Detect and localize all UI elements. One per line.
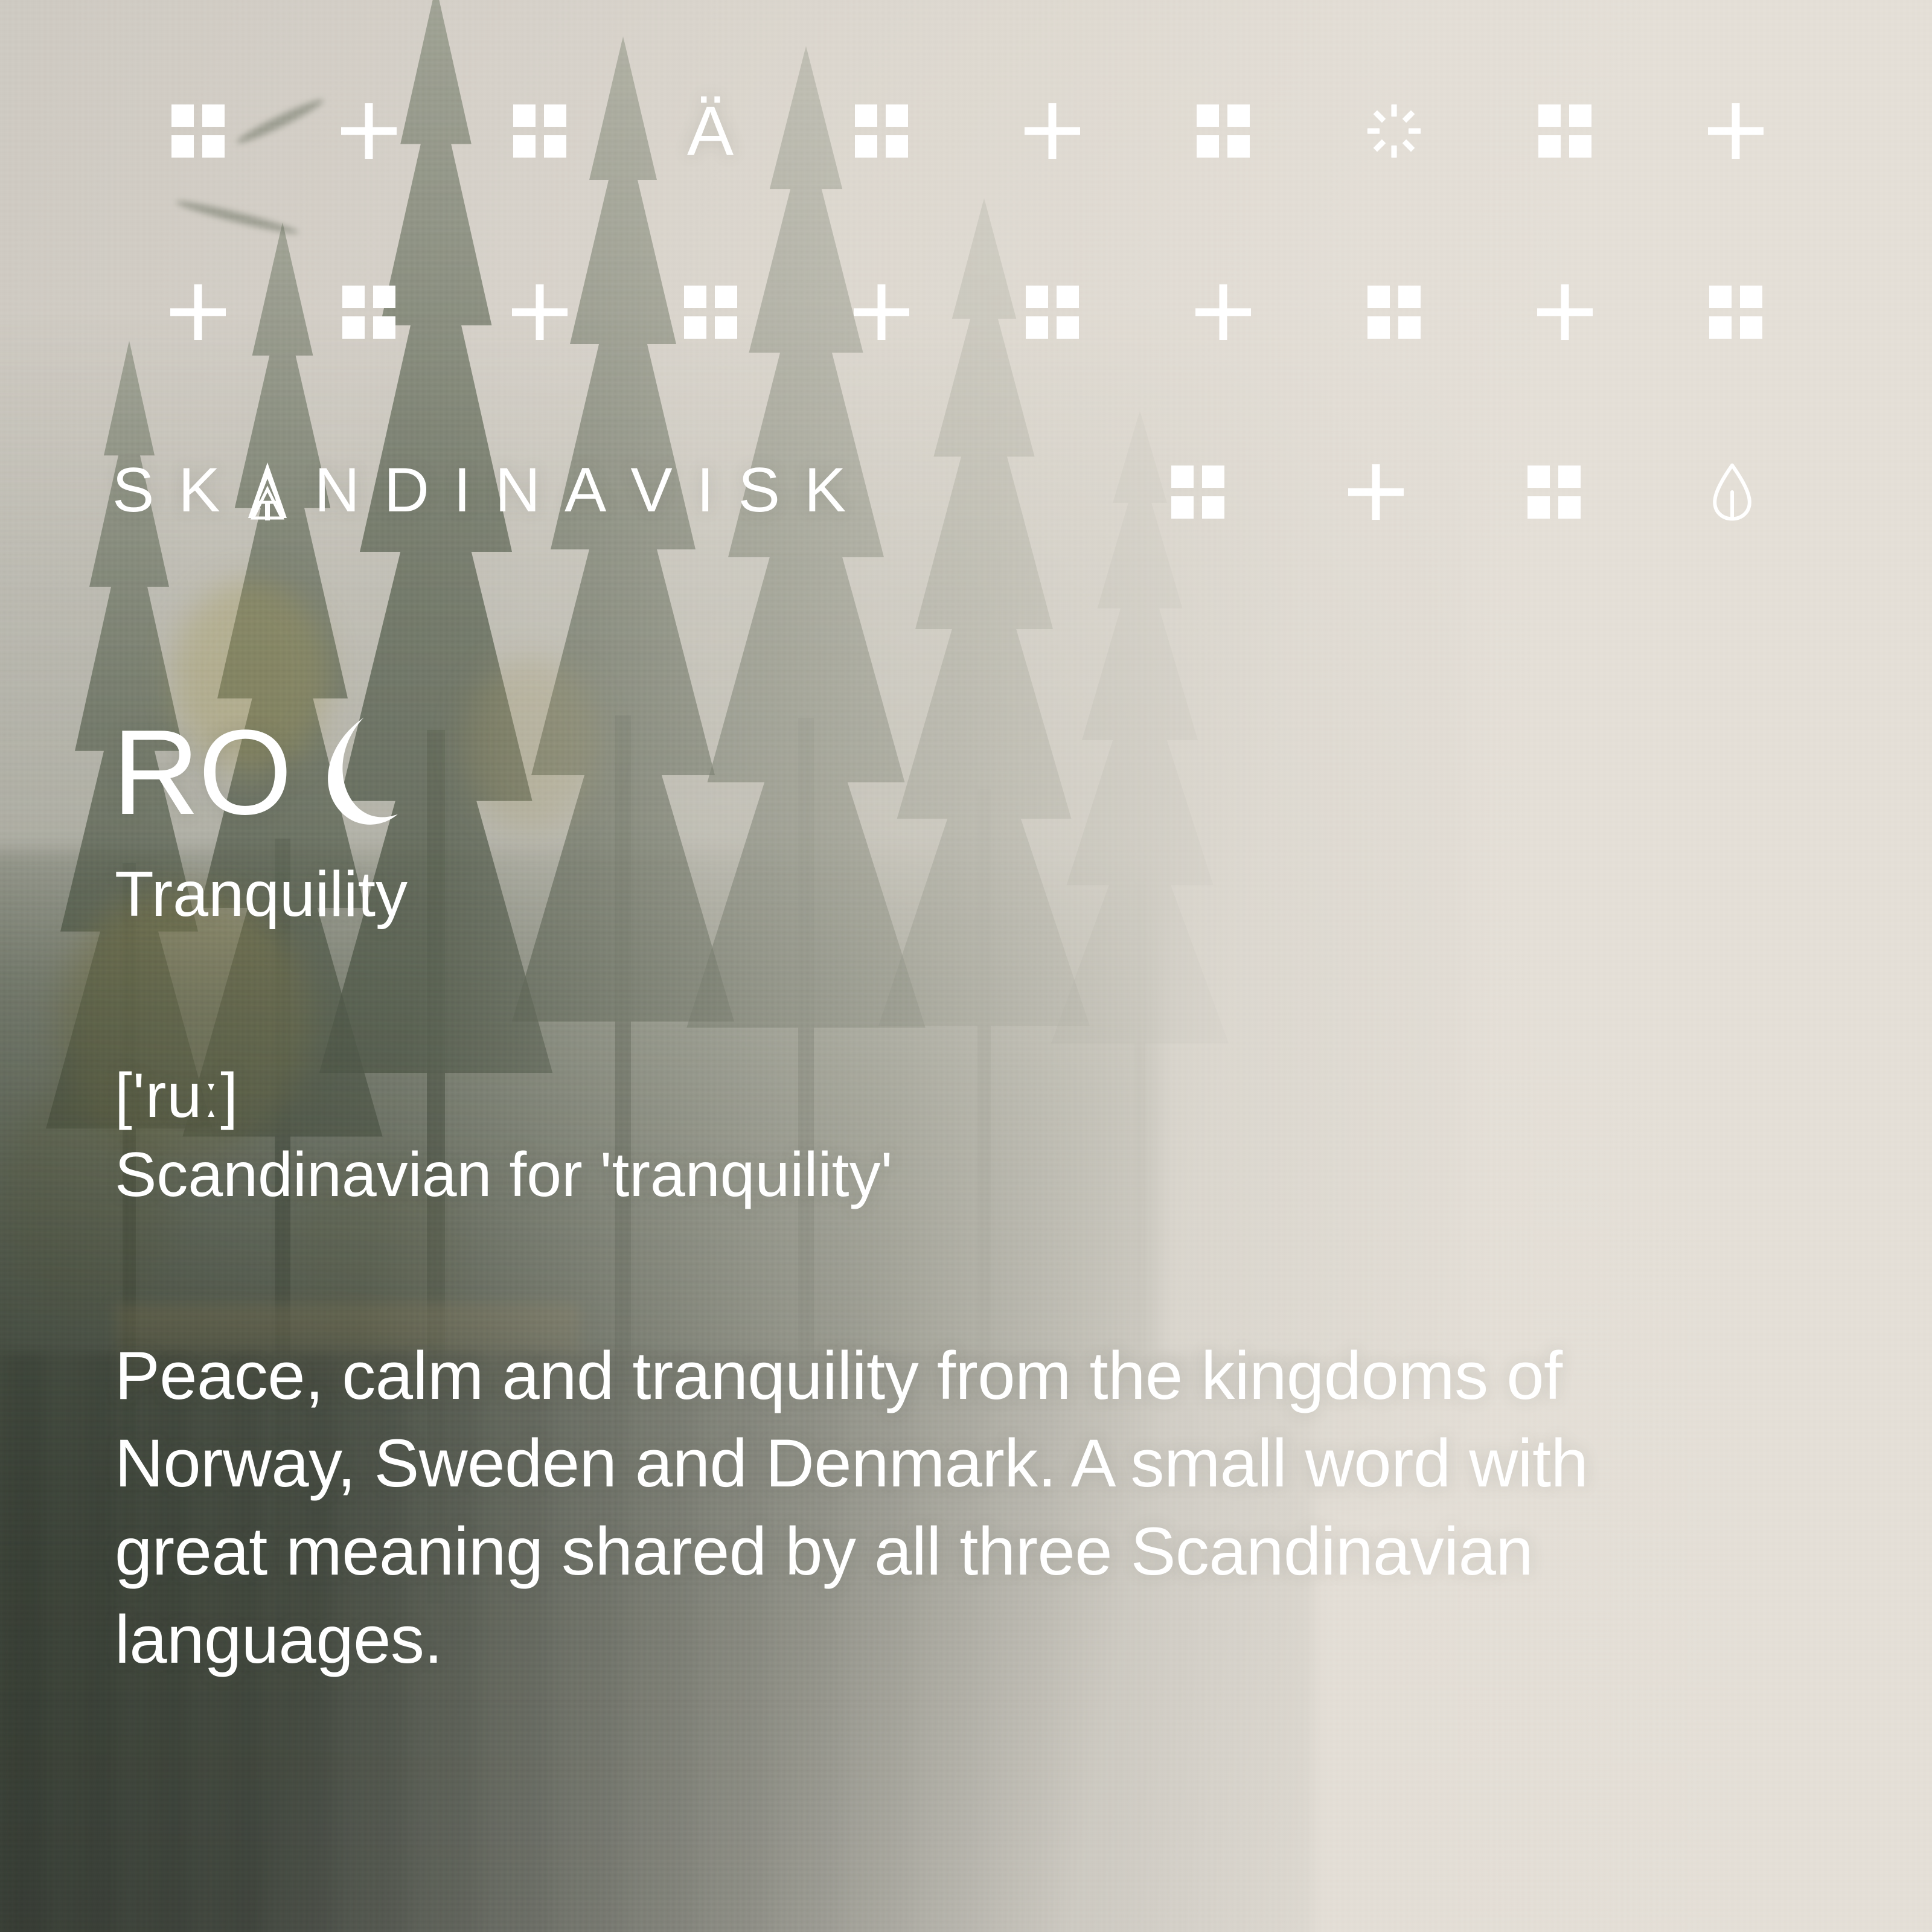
plus-icon bbox=[512, 284, 568, 340]
plus-icon-cell bbox=[454, 279, 625, 345]
grid-icon-cell bbox=[1479, 98, 1650, 164]
grid-icon bbox=[342, 286, 395, 339]
grid-icon-cell bbox=[1108, 459, 1287, 525]
grid-icon bbox=[1709, 286, 1762, 339]
plus-icon bbox=[1195, 284, 1251, 340]
grid-icon-cell bbox=[1465, 459, 1643, 525]
grid-icon-cell bbox=[625, 279, 796, 345]
plus-icon-cell bbox=[1650, 98, 1821, 164]
wordmark-letter: V bbox=[630, 459, 672, 522]
plus-icon bbox=[341, 103, 397, 159]
wordmark-letter: I bbox=[697, 459, 714, 522]
grid-icon-cell bbox=[1650, 279, 1821, 345]
wordmark-letter: N bbox=[495, 459, 540, 522]
brand-wordmark[interactable]: S K N D I N A V I S K bbox=[112, 454, 846, 526]
wordmark-letter: D bbox=[384, 459, 429, 522]
wordmark-letter: K bbox=[804, 459, 846, 522]
description-text: Peace, calm and tranquility from the kin… bbox=[115, 1332, 1682, 1683]
page-title-row: RO bbox=[112, 712, 1682, 833]
pine-tree-icon bbox=[245, 459, 290, 522]
description-block: Peace, calm and tranquility from the kin… bbox=[115, 1332, 1682, 1683]
plus-icon bbox=[170, 284, 226, 340]
plus-icon bbox=[1537, 284, 1593, 340]
grid-icon bbox=[855, 104, 908, 158]
wordmark-letter: N bbox=[315, 459, 360, 522]
wordmark-letter: A bbox=[565, 459, 606, 522]
grid-icon-cell bbox=[967, 279, 1137, 345]
grid-icon bbox=[513, 104, 566, 158]
grid-icon-cell bbox=[796, 98, 967, 164]
plus-icon-cell bbox=[967, 98, 1137, 164]
grid-icon bbox=[684, 286, 737, 339]
plus-icon bbox=[1708, 103, 1764, 159]
grid-icon-cell bbox=[1137, 98, 1308, 164]
crescent-moon-icon bbox=[312, 715, 426, 830]
plus-icon-cell bbox=[283, 98, 454, 164]
plus-icon bbox=[1348, 464, 1404, 520]
pronunciation-block: ['ruː] Scandinavian for 'tranquility' bbox=[115, 1061, 1682, 1211]
plus-icon bbox=[1025, 103, 1080, 159]
plus-icon-cell bbox=[112, 279, 283, 345]
a-umlaut-icon: Ä bbox=[687, 100, 734, 162]
wordmark-letter: I bbox=[453, 459, 471, 522]
leaf-icon bbox=[1709, 463, 1755, 521]
grid-icon bbox=[1171, 465, 1224, 519]
grid-icon bbox=[1197, 104, 1250, 158]
plus-icon-cell bbox=[796, 279, 967, 345]
grid-icon-cell bbox=[454, 98, 625, 164]
grid-icon-cell bbox=[112, 98, 283, 164]
grid-icon bbox=[1538, 104, 1591, 158]
icon-row-1: Ä bbox=[112, 98, 1821, 164]
grid-icon-cell bbox=[1308, 279, 1479, 345]
subtitle: Tranquility bbox=[115, 859, 1682, 930]
gloss: Scandinavian for 'tranquility' bbox=[115, 1139, 1682, 1211]
plus-icon bbox=[854, 284, 909, 340]
plus-icon-cell bbox=[1287, 459, 1465, 525]
sun-icon bbox=[1366, 103, 1422, 159]
grid-icon-cell bbox=[283, 279, 454, 345]
grid-icon bbox=[171, 104, 225, 158]
poster-canvas: Ä bbox=[0, 0, 1932, 1932]
page-title: RO bbox=[112, 712, 291, 833]
wordmark-letter: K bbox=[178, 459, 220, 522]
wordmark-letter: S bbox=[738, 459, 780, 522]
a-umlaut-icon-cell: Ä bbox=[625, 98, 796, 164]
plus-icon-cell bbox=[1479, 279, 1650, 345]
icon-row-2 bbox=[112, 279, 1821, 345]
word-card: RO Tranquility ['ruː] Scandinavian for '… bbox=[112, 712, 1682, 1683]
leaf-icon-cell bbox=[1643, 459, 1821, 525]
pronunciation: ['ruː] bbox=[115, 1061, 1682, 1131]
grid-icon bbox=[1367, 286, 1421, 339]
grid-icon bbox=[1527, 465, 1581, 519]
plus-icon-cell bbox=[1137, 279, 1308, 345]
grid-icon bbox=[1026, 286, 1079, 339]
wordmark-letter: S bbox=[112, 459, 154, 522]
sun-icon-cell bbox=[1308, 98, 1479, 164]
